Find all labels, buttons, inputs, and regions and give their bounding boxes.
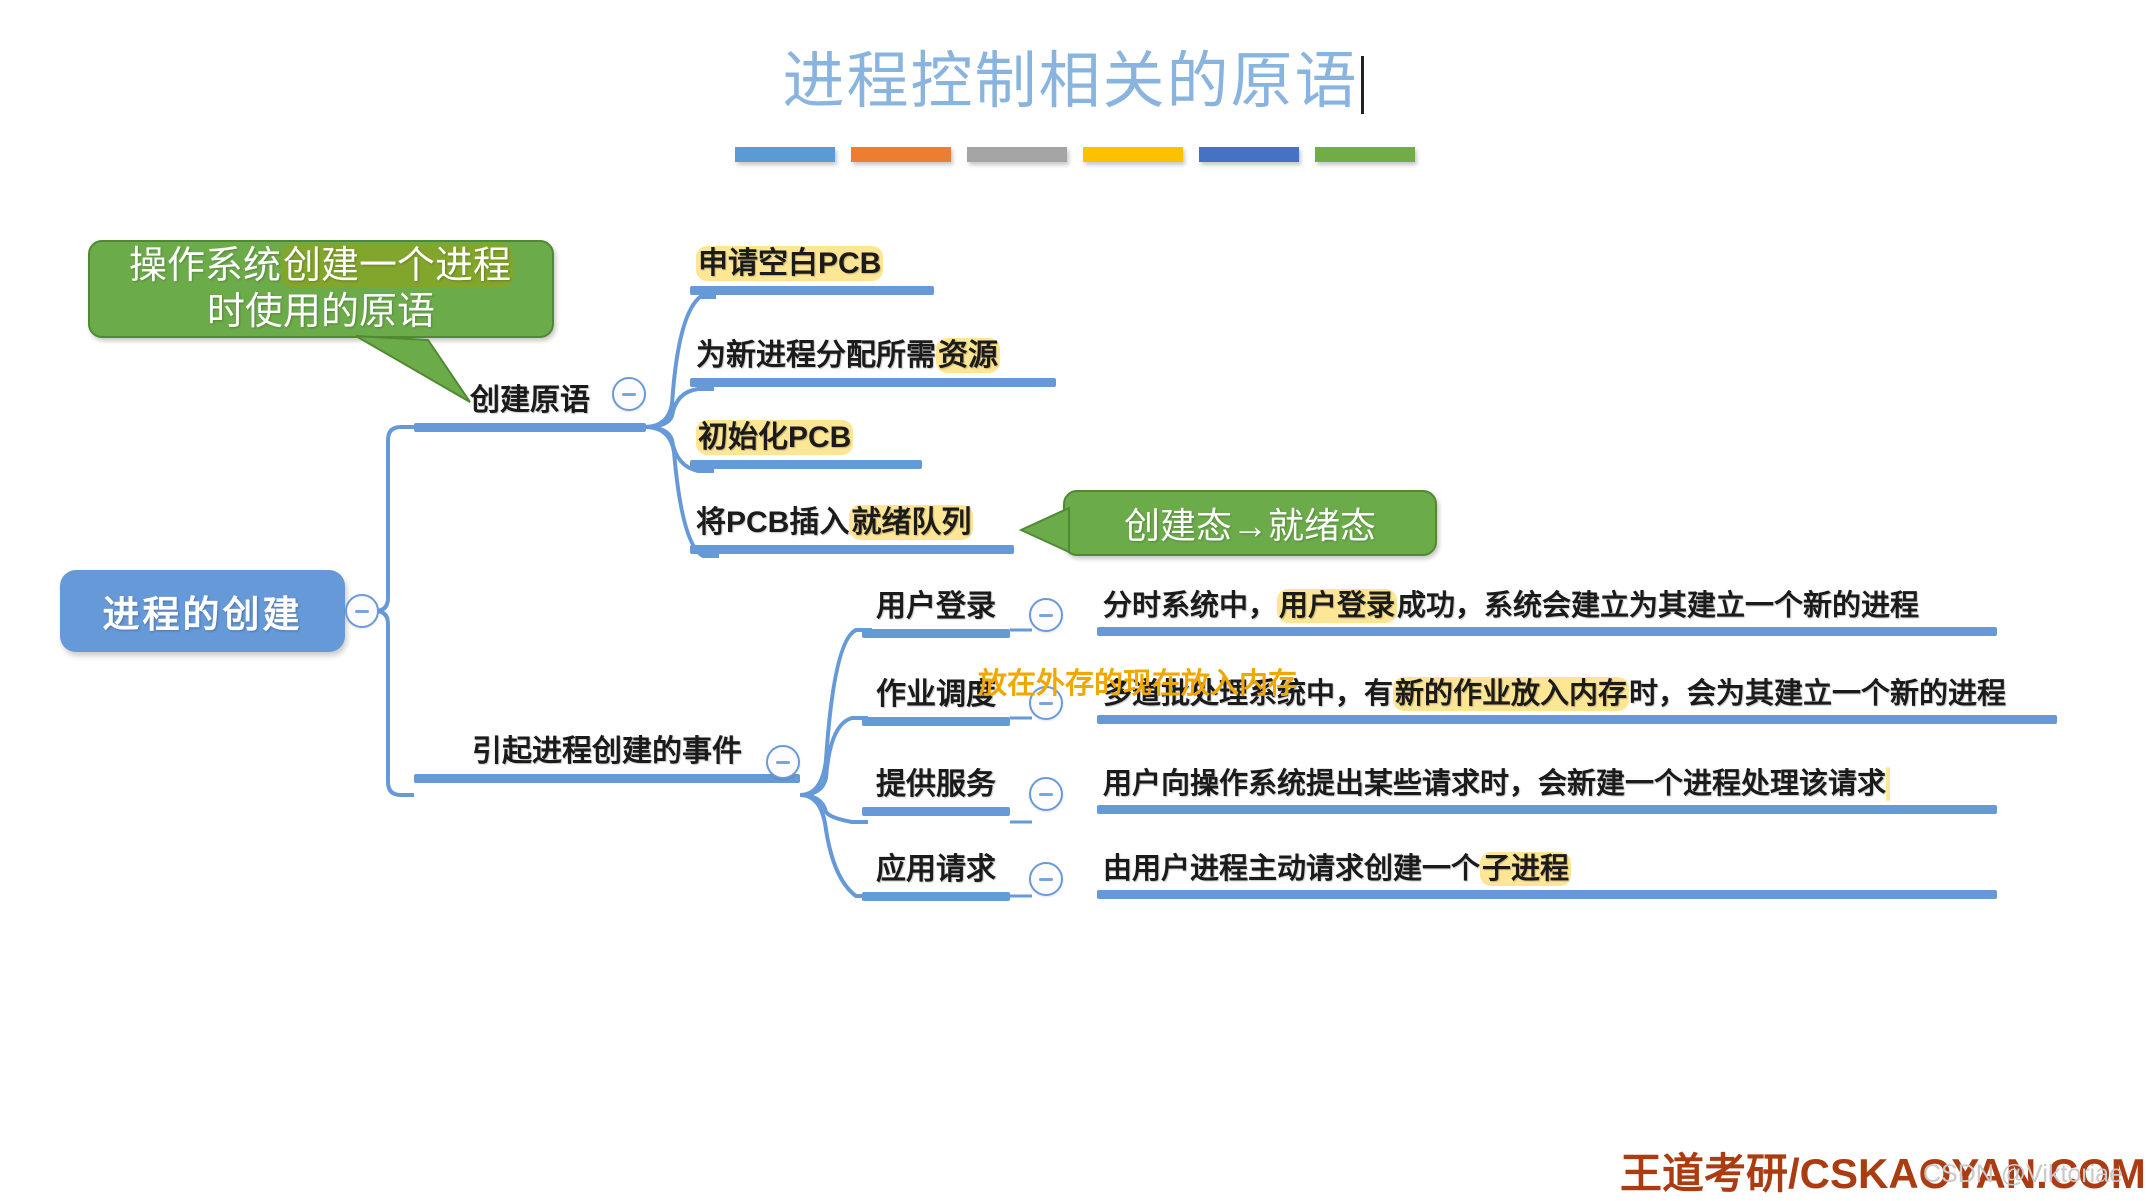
node-underline — [690, 460, 922, 469]
callout-line-1: 操作系统创建一个进程 — [129, 243, 513, 289]
decor-bar-row — [735, 147, 1415, 162]
detail-node-application-request-text: 由用户进程主动请求创建一个子进程 — [1097, 851, 1997, 890]
node-underline — [1097, 805, 1997, 814]
node-underline — [1097, 890, 1997, 899]
leaf-node-allocate-resources-label: 为新进程分配所需资源 — [690, 337, 1056, 378]
callout-create-primitive-text: 操作系统创建一个进程 时使用的原语 — [129, 243, 513, 336]
branch-node-creation-events-label: 引起进程创建的事件 — [414, 733, 800, 774]
leaf-node-init-pcb[interactable]: 初始化PCB — [690, 419, 922, 469]
callout-line-2: 时使用的原语 — [129, 289, 513, 335]
leaf-node-provide-service[interactable]: 提供服务 — [862, 766, 1010, 816]
callout-create-primitive: 操作系统创建一个进程 时使用的原语 — [88, 240, 554, 338]
leaf-node-allocate-resources[interactable]: 为新进程分配所需资源 — [690, 337, 1056, 387]
leaf-application-request-toggle[interactable] — [1029, 862, 1063, 896]
detail-node-provide-service[interactable]: 用户向操作系统提出某些请求时，会新建一个进程处理该请求 — [1097, 766, 1997, 814]
node-underline — [690, 545, 1014, 554]
node-underline — [690, 378, 1056, 387]
node-underline — [1097, 715, 2057, 724]
leaf-node-user-login[interactable]: 用户登录 — [862, 588, 1010, 638]
leaf-node-insert-ready-queue-label: 将PCB插入就绪队列 — [690, 504, 1014, 545]
detail-node-provide-service-text: 用户向操作系统提出某些请求时，会新建一个进程处理该请求 — [1097, 766, 1997, 805]
detail-node-application-request[interactable]: 由用户进程主动请求创建一个子进程 — [1097, 851, 1997, 899]
node-underline — [414, 774, 800, 783]
leaf-node-insert-ready-queue[interactable]: 将PCB插入就绪队列 — [690, 504, 1014, 554]
node-underline — [862, 717, 1010, 726]
callout-tail — [354, 334, 494, 414]
decor-bar-green — [1315, 147, 1415, 162]
root-node-label: 进程的创建 — [103, 584, 303, 638]
node-underline — [862, 807, 1010, 816]
callout-state-transition: 创建态→就绪态 — [1063, 490, 1437, 556]
leaf-node-application-request[interactable]: 应用请求 — [862, 851, 1010, 901]
leaf-node-provide-service-label: 提供服务 — [862, 766, 1010, 807]
mindmap-canvas: 进程控制相关的原语 — [0, 0, 2146, 1196]
leaf-user-login-toggle[interactable] — [1029, 598, 1063, 632]
node-underline — [862, 892, 1010, 901]
callout-state-transition-text: 创建态→就绪态 — [1124, 497, 1376, 549]
page-title-text: 进程控制相关的原语 — [782, 48, 1358, 116]
node-underline — [690, 286, 934, 295]
node-underline — [414, 423, 646, 432]
annotation-memory-note: 放在外存的现在放入内存 — [978, 660, 1297, 702]
decor-bar-yellow — [1083, 147, 1183, 162]
decor-bar-navy — [1199, 147, 1299, 162]
page-title: 进程控制相关的原语 — [0, 30, 2146, 120]
leaf-provide-service-toggle[interactable] — [1029, 777, 1063, 811]
branch-create-primitive-toggle[interactable] — [612, 377, 646, 411]
detail-node-user-login[interactable]: 分时系统中，用户登录成功，系统会建立为其建立一个新的进程 — [1097, 588, 1997, 636]
leaf-node-apply-blank-pcb[interactable]: 申请空白PCB — [690, 245, 934, 295]
detail-node-user-login-text: 分时系统中，用户登录成功，系统会建立为其建立一个新的进程 — [1097, 588, 1997, 627]
decor-bar-orange — [851, 147, 951, 162]
text-caret — [1361, 56, 1364, 114]
leaf-node-init-pcb-label: 初始化PCB — [690, 419, 922, 460]
decor-bar-blue — [735, 147, 835, 162]
callout-tail — [1019, 506, 1075, 554]
decor-bar-gray — [967, 147, 1067, 162]
leaf-node-user-login-label: 用户登录 — [862, 588, 1010, 629]
branch-node-creation-events[interactable]: 引起进程创建的事件 — [414, 733, 800, 783]
node-underline — [862, 629, 1010, 638]
node-underline — [1097, 627, 1997, 636]
leaf-node-application-request-label: 应用请求 — [862, 851, 1010, 892]
root-collapse-toggle[interactable] — [345, 594, 379, 628]
root-node[interactable]: 进程的创建 — [60, 570, 345, 652]
branch-creation-events-toggle[interactable] — [766, 745, 800, 779]
watermark-csdn: CSDN @Viktoriae — [1923, 1160, 2123, 1189]
leaf-node-apply-blank-pcb-label: 申请空白PCB — [690, 245, 934, 286]
